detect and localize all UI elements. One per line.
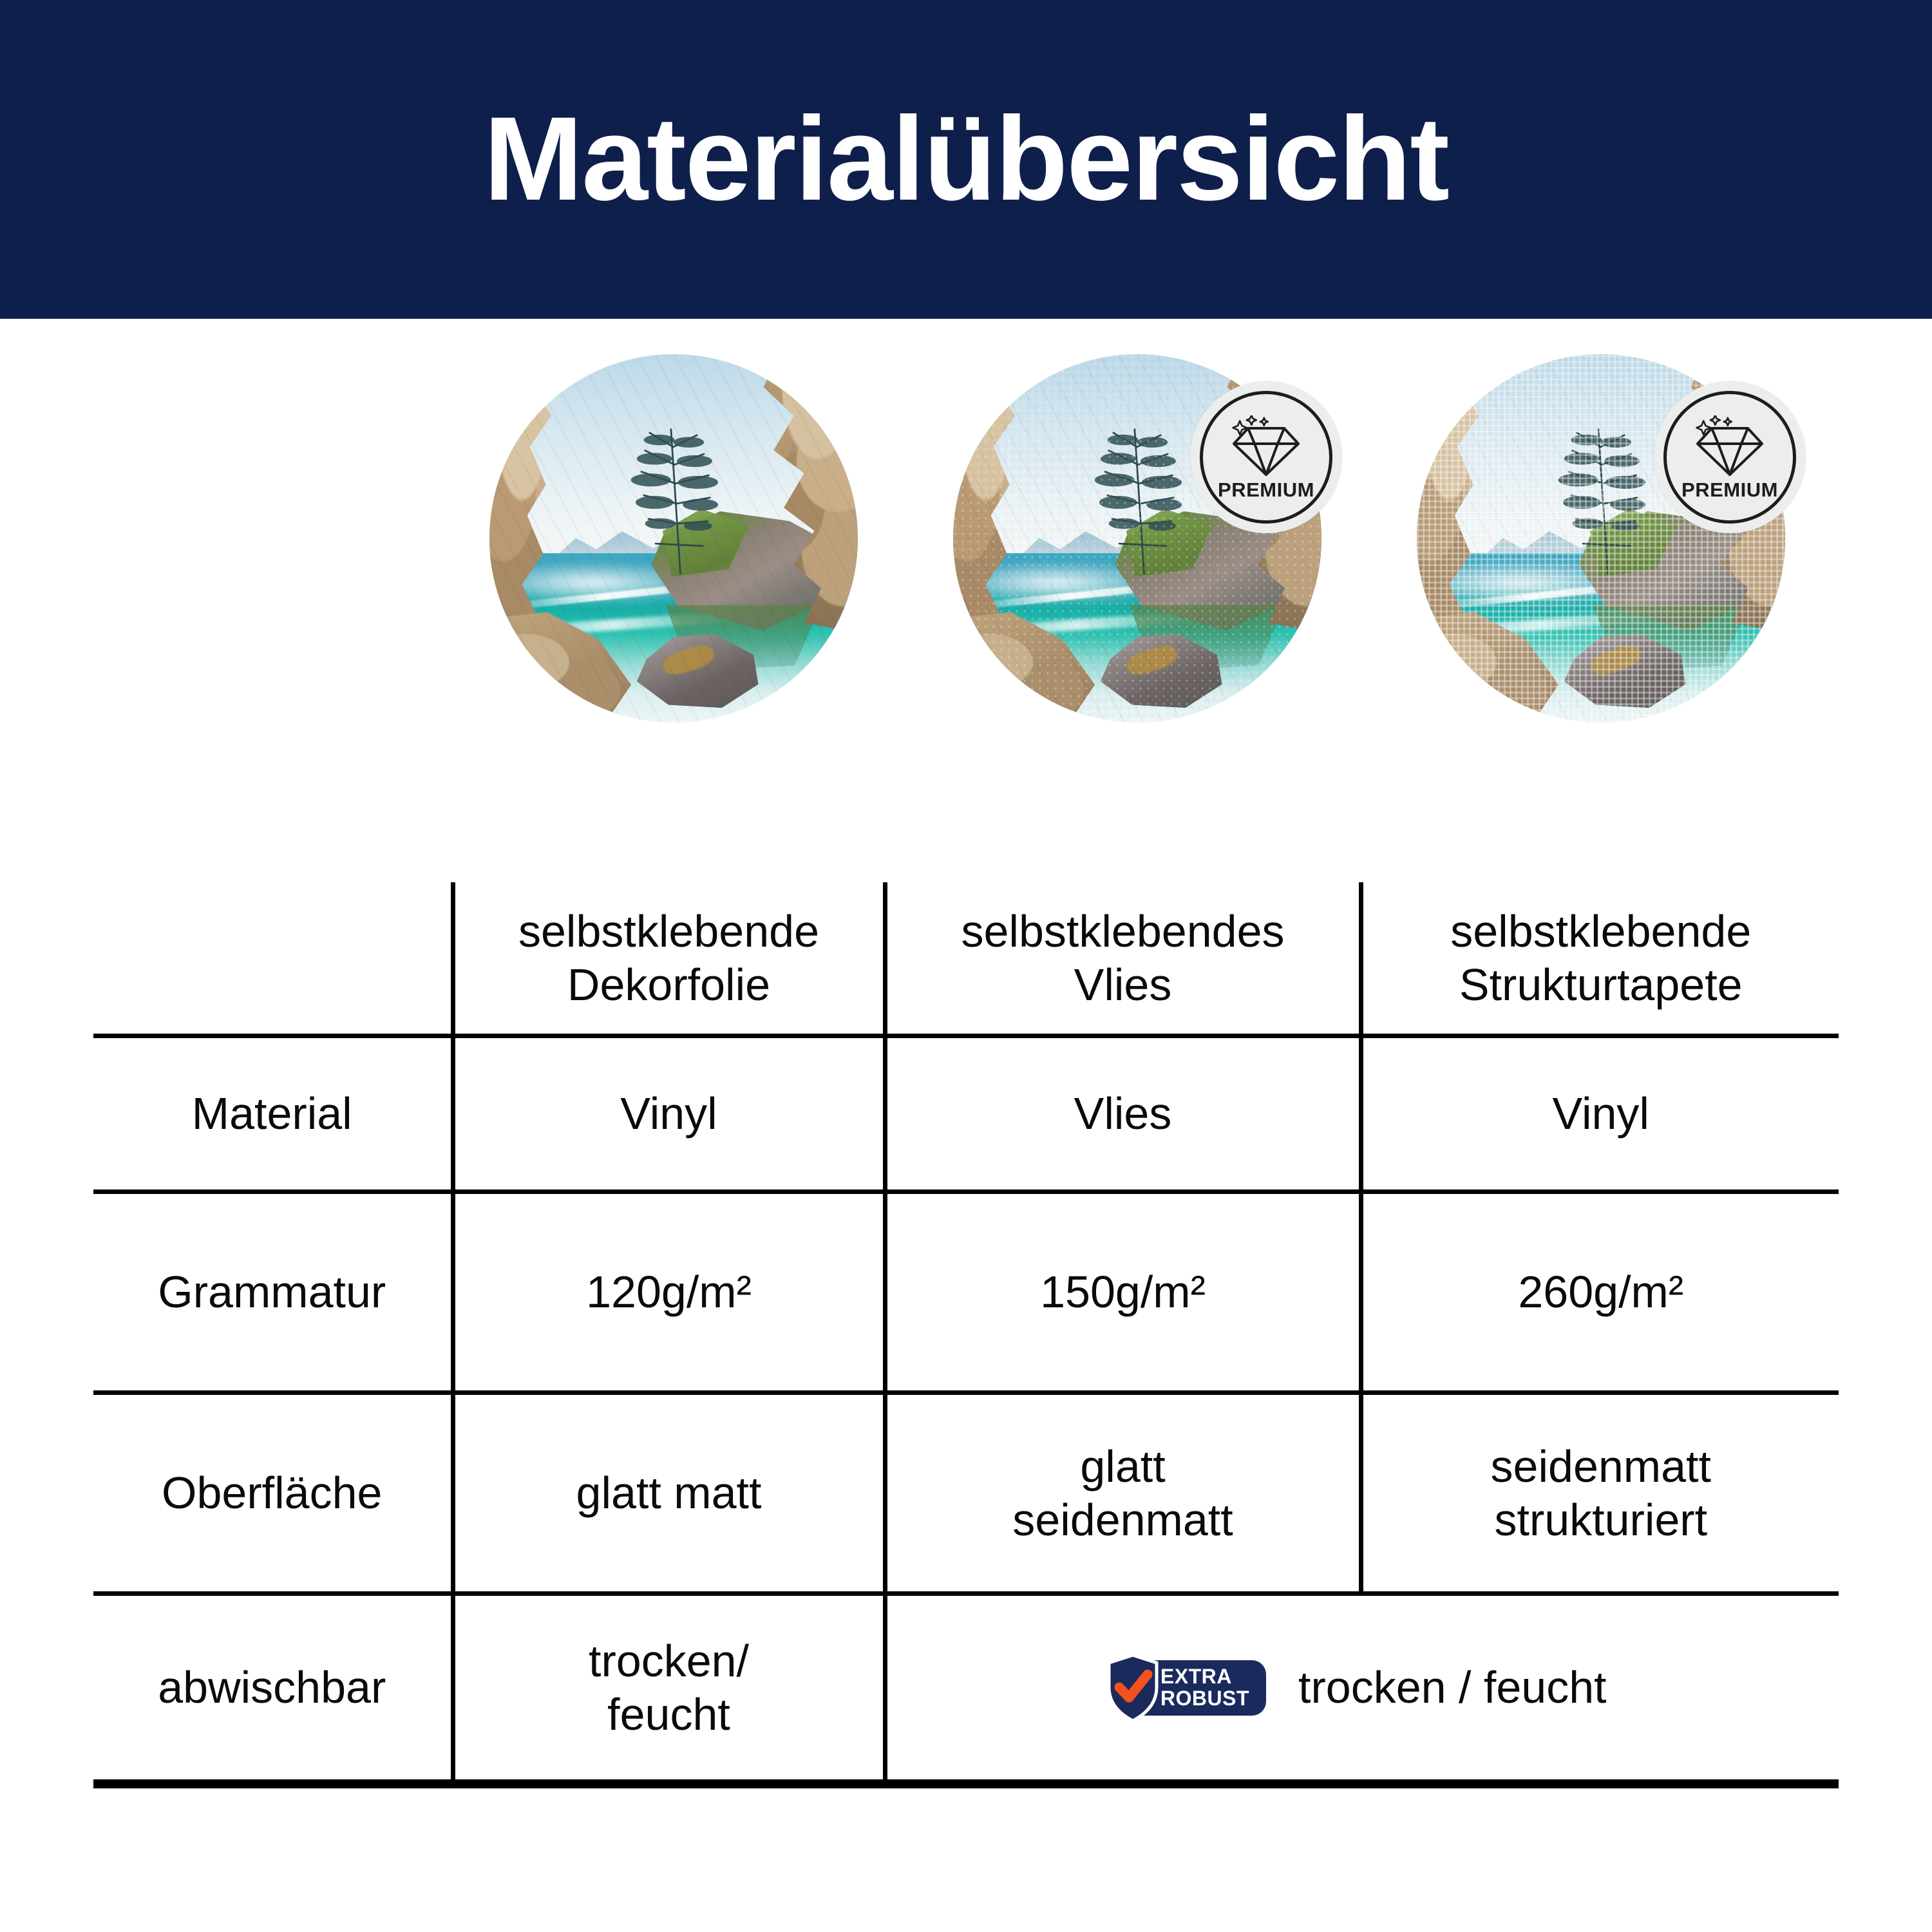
shield-check-icon — [1105, 1653, 1160, 1723]
extra-robust-label: EXTRA ROBUST — [1160, 1666, 1249, 1709]
cell-line1: glatt — [1080, 1441, 1165, 1492]
photo-rock-seams — [489, 354, 858, 723]
column-header-line2: Dekorfolie — [567, 960, 770, 1010]
diamond-icon — [1229, 415, 1303, 477]
column-header-line2: Vlies — [1074, 960, 1172, 1010]
cell-material-strukturtapete: Vinyl — [1361, 1036, 1839, 1192]
column-header-line2: Strukturtapete — [1459, 960, 1743, 1010]
premium-badge-label: PREMIUM — [1218, 480, 1314, 500]
cell-oberflaeche-vlies: glatt seidenmatt — [885, 1393, 1361, 1594]
row-label-material: Material — [93, 1036, 453, 1192]
robust-cell-content: EXTRA ROBUST trocken / feucht — [893, 1660, 1834, 1716]
cell-material-vlies: Vlies — [885, 1036, 1361, 1192]
table-row: Material Vinyl Vlies Vinyl — [93, 1036, 1839, 1192]
robust-line-1: EXTRA — [1160, 1666, 1249, 1687]
cell-line1: trocken/ — [589, 1636, 749, 1686]
premium-badge-label: PREMIUM — [1681, 480, 1778, 500]
row-label-abwischbar: abwischbar — [93, 1594, 453, 1785]
page-header: Materialübersicht — [0, 0, 1932, 319]
material-comparison-table: selbstklebende Dekorfolie selbstklebende… — [93, 882, 1839, 1788]
robust-line-2: ROBUST — [1160, 1688, 1249, 1709]
cell-oberflaeche-strukturtapete: seidenmatt strukturiert — [1361, 1393, 1839, 1594]
row-label-oberflaeche: Oberfläche — [93, 1393, 453, 1594]
table-row: abwischbar trocken/ feucht — [93, 1594, 1839, 1785]
extra-robust-badge: EXTRA ROBUST — [1119, 1660, 1266, 1716]
column-header-line1: selbstklebendes — [961, 906, 1285, 956]
premium-badge-inner: PREMIUM — [1663, 391, 1796, 524]
table-row: Oberfläche glatt matt glatt seidenmatt s… — [93, 1393, 1839, 1594]
cell-grammatur-dekorfolie: 120g/m² — [453, 1192, 885, 1393]
diamond-icon — [1692, 415, 1767, 477]
column-header-dekorfolie: selbstklebende Dekorfolie — [453, 882, 885, 1036]
column-header-vlies: selbstklebendes Vlies — [885, 882, 1361, 1036]
column-header-line1: selbstklebende — [1450, 906, 1751, 956]
premium-badge: PREMIUM — [1654, 381, 1806, 533]
table-row: Grammatur 120g/m² 150g/m² 260g/m² — [93, 1192, 1839, 1393]
sample-circle-dekorfolie — [489, 354, 858, 723]
cell-oberflaeche-dekorfolie: glatt matt — [453, 1393, 885, 1594]
cell-abwischbar-dekorfolie: trocken/ feucht — [453, 1594, 885, 1785]
row-label-grammatur: Grammatur — [93, 1192, 453, 1393]
premium-badge-inner: PREMIUM — [1200, 391, 1332, 524]
table-header-row: selbstklebende Dekorfolie selbstklebende… — [93, 882, 1839, 1036]
cell-line2: strukturiert — [1494, 1495, 1707, 1545]
table-corner-cell — [93, 882, 453, 1036]
column-header-strukturtapete: selbstklebende Strukturtapete — [1361, 882, 1839, 1036]
cell-material-dekorfolie: Vinyl — [453, 1036, 885, 1192]
cell-line1: seidenmatt — [1491, 1441, 1711, 1492]
sample-photo-dekorfolie — [489, 354, 858, 723]
column-header-line1: selbstklebende — [518, 906, 819, 956]
cell-grammatur-vlies: 150g/m² — [885, 1192, 1361, 1393]
cell-line2: feucht — [607, 1689, 730, 1739]
photo-rock-frame — [489, 354, 858, 723]
cell-abwischbar-merged: EXTRA ROBUST trocken / feucht — [885, 1594, 1839, 1785]
cell-line2: seidenmatt — [1012, 1495, 1233, 1545]
cell-grammatur-strukturtapete: 260g/m² — [1361, 1192, 1839, 1393]
page-title: Materialübersicht — [484, 100, 1448, 219]
cell-abwischbar-merged-text: trocken / feucht — [1298, 1661, 1607, 1714]
premium-badge: PREMIUM — [1190, 381, 1342, 533]
